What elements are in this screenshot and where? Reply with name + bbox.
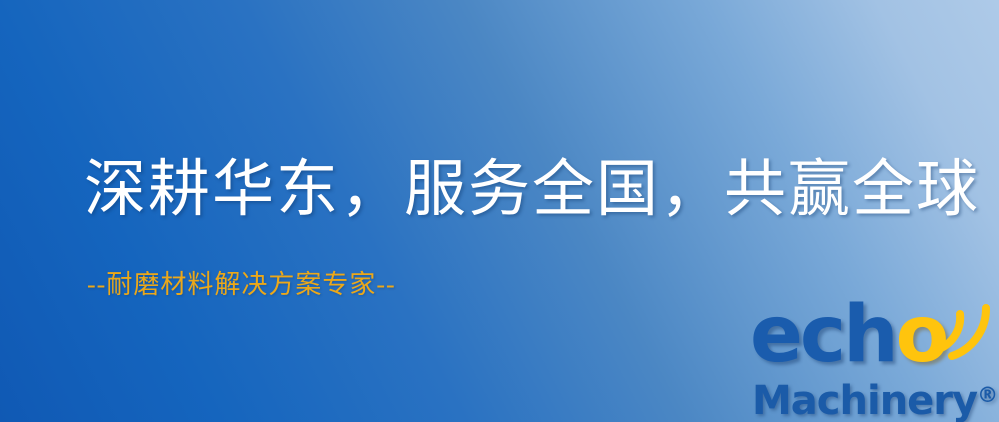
logo-text-ech: ech [750,290,896,380]
banner-headline: 深耕华东，服务全国，共赢全球 [84,152,980,228]
company-logo[interactable]: echo Machinery® [744,296,999,422]
banner-subtitle: --耐磨材料解决方案专家-- [87,268,396,302]
logo-subtext: Machinery® [752,373,998,422]
hero-banner: 深耕华东，服务全国，共赢全球 --耐磨材料解决方案专家-- echo Machi… [0,0,999,422]
echo-wave-arcs-icon [930,294,999,360]
logo-wordmark: echo [750,296,946,374]
registered-trademark-icon: ® [977,383,998,407]
logo-subtext-label: Machinery [752,378,977,422]
